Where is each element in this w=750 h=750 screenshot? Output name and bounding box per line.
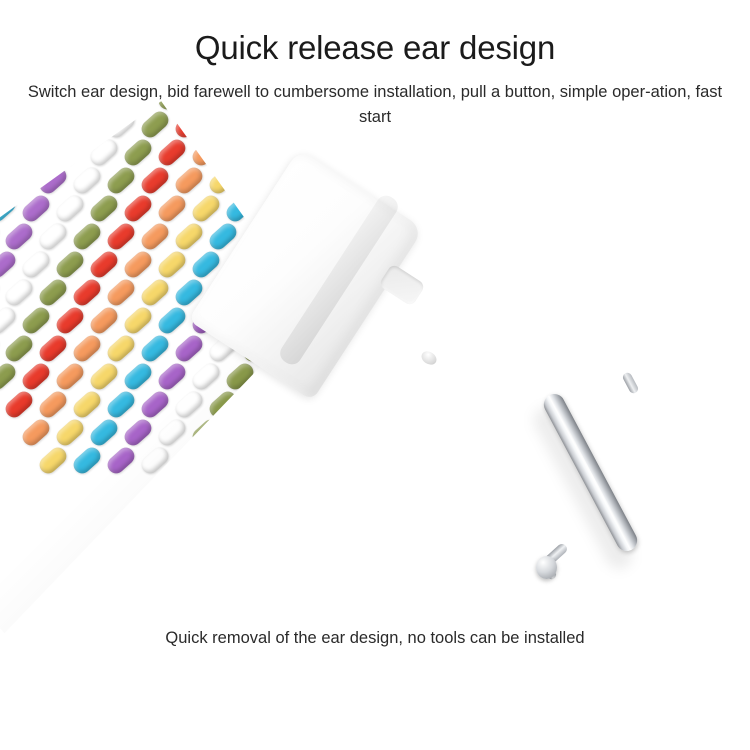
weave-bead <box>19 136 53 169</box>
weave-bead <box>36 164 70 197</box>
weave-bead <box>104 220 138 253</box>
pin-lever-knob <box>536 556 557 579</box>
weave-bead <box>138 276 172 309</box>
weave-bead <box>53 248 87 281</box>
weave-bead <box>104 164 138 197</box>
weave-bead <box>121 136 155 169</box>
weave-bead <box>376 388 410 421</box>
weave-bead <box>189 136 223 169</box>
weave-bead <box>155 416 189 449</box>
weave-bead <box>2 388 36 421</box>
product-feature-image: Quick release ear design Switch ear desi… <box>0 0 750 750</box>
weave-bead <box>325 416 359 449</box>
weave-bead <box>0 220 2 253</box>
weave-bead <box>240 388 274 421</box>
weave-bead <box>223 136 257 169</box>
weave-bead <box>444 444 478 477</box>
weave-bead <box>257 136 291 169</box>
weave-bead <box>155 248 189 281</box>
weave-bead <box>2 276 36 309</box>
weave-bead <box>0 248 19 281</box>
weave-bead <box>393 416 427 449</box>
weave-bead <box>223 416 257 449</box>
weave-bead <box>478 388 512 421</box>
weave-bead <box>19 416 53 449</box>
weave-bead <box>0 360 19 393</box>
weave-bead <box>138 332 172 365</box>
weave-bead <box>138 388 172 421</box>
weave-bead <box>172 332 206 365</box>
weave-bead <box>121 304 155 337</box>
weave-bead <box>155 304 189 337</box>
weave-bead <box>138 444 172 477</box>
weave-bead <box>0 192 19 225</box>
weave-bead <box>87 416 121 449</box>
weave-bead <box>53 304 87 337</box>
weave-bead <box>19 360 53 393</box>
weave-bead <box>410 444 444 477</box>
weave-bead <box>427 416 461 449</box>
weave-bead <box>172 388 206 421</box>
weave-bead <box>0 108 2 141</box>
weave-bead <box>0 136 19 169</box>
weave-bead <box>0 80 19 113</box>
weave-bead <box>53 360 87 393</box>
weave-bead <box>206 388 240 421</box>
weave-bead <box>359 416 393 449</box>
weave-bead <box>155 192 189 225</box>
weave-bead <box>2 220 36 253</box>
weave-bead <box>0 276 2 309</box>
weave-bead <box>36 220 70 253</box>
weave-bead <box>19 192 53 225</box>
weave-bead <box>206 444 240 477</box>
weave-bead <box>444 388 478 421</box>
spring-bar-pin <box>530 390 720 590</box>
weave-bead <box>70 164 104 197</box>
weave-bead <box>121 192 155 225</box>
weave-bead <box>189 416 223 449</box>
weave-bead <box>87 304 121 337</box>
weave-bead <box>104 332 138 365</box>
weave-bead <box>155 360 189 393</box>
weave-bead <box>461 416 495 449</box>
weave-bead <box>0 332 2 365</box>
weave-bead <box>2 164 36 197</box>
weave-bead <box>70 276 104 309</box>
weave-bead <box>36 276 70 309</box>
weave-bead <box>70 220 104 253</box>
weave-bead <box>342 444 376 477</box>
weave-bead <box>53 416 87 449</box>
weave-bead <box>461 360 495 393</box>
weave-bead <box>138 220 172 253</box>
weave-bead <box>70 332 104 365</box>
weave-bead <box>121 416 155 449</box>
weave-bead <box>172 164 206 197</box>
weave-bead <box>240 444 274 477</box>
weave-bead <box>138 164 172 197</box>
weave-bead <box>291 416 325 449</box>
weave-bead <box>495 416 529 449</box>
weave-bead <box>274 444 308 477</box>
weave-bead <box>189 360 223 393</box>
weave-bead <box>104 444 138 477</box>
weave-bead <box>53 136 87 169</box>
clasp-lug <box>419 349 439 368</box>
weave-bead <box>376 444 410 477</box>
weave-bead <box>70 388 104 421</box>
weave-bead <box>444 332 478 365</box>
weave-bead <box>0 304 19 337</box>
weave-bead <box>172 220 206 253</box>
pin-tip-top <box>621 371 639 395</box>
weave-bead <box>410 388 444 421</box>
weave-bead <box>87 192 121 225</box>
weave-bead <box>121 248 155 281</box>
page-caption: Quick removal of the ear design, no tool… <box>0 626 750 650</box>
weave-bead <box>342 388 376 421</box>
weave-bead <box>172 444 206 477</box>
page-subtitle: Switch ear design, bid farewell to cumbe… <box>22 80 728 130</box>
weave-bead <box>19 304 53 337</box>
weave-bead <box>478 444 512 477</box>
weave-bead <box>87 136 121 169</box>
weave-bead <box>325 136 359 169</box>
weave-bead <box>0 164 2 197</box>
weave-bead <box>36 332 70 365</box>
weave-bead <box>19 248 53 281</box>
quick-release-clasp <box>232 172 437 387</box>
weave-bead <box>87 248 121 281</box>
weave-bead <box>87 360 121 393</box>
weave-bead <box>104 276 138 309</box>
weave-bead <box>121 360 155 393</box>
weave-bead <box>70 444 104 477</box>
weave-bead <box>36 388 70 421</box>
weave-bead <box>104 388 138 421</box>
weave-bead <box>53 192 87 225</box>
weave-bead <box>257 416 291 449</box>
weave-bead <box>2 332 36 365</box>
weave-bead <box>155 136 189 169</box>
product-photo <box>0 150 750 620</box>
page-title: Quick release ear design <box>0 28 750 68</box>
weave-bead <box>36 444 70 477</box>
weave-bead <box>308 444 342 477</box>
weave-bead <box>189 192 223 225</box>
